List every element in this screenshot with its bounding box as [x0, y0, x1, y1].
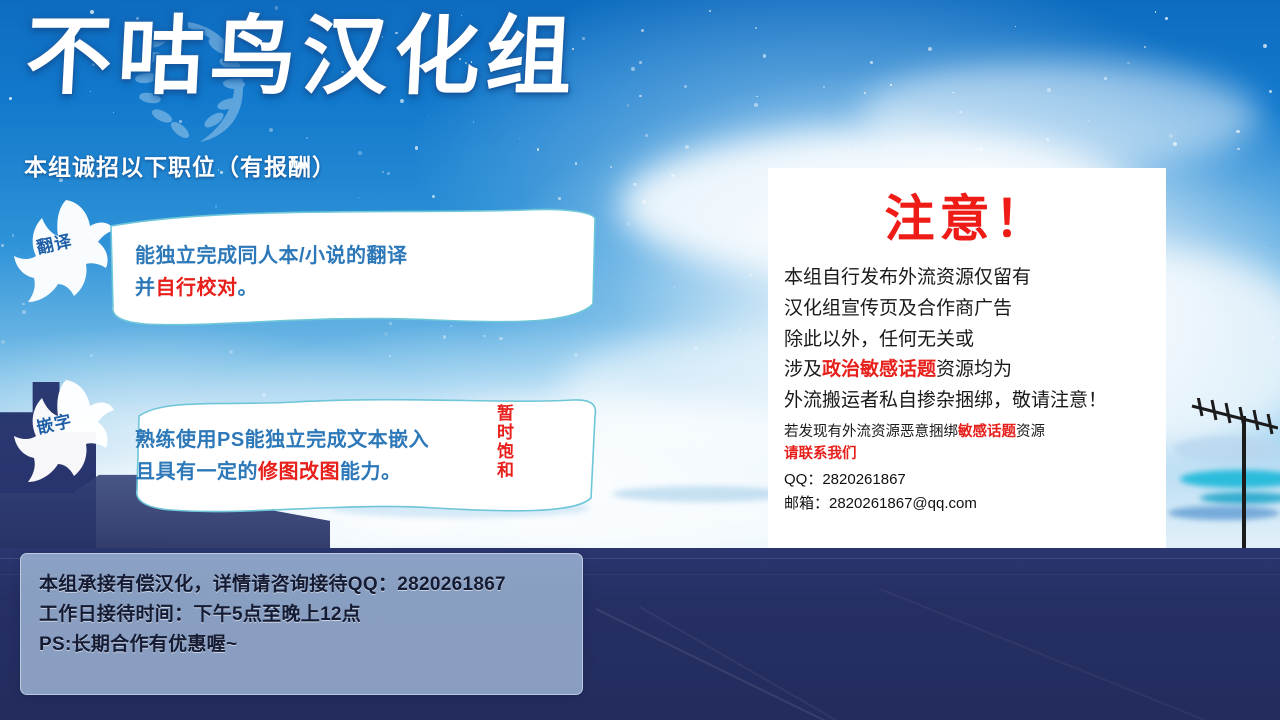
notice-small-prefix: 若发现有外流资源恶意捆绑 [784, 424, 958, 440]
notice-panel: 注意！ 本组自行发布外流资源仅留有 汉化组宣传页及合作商广告 除此以外，任何无关… [768, 168, 1166, 548]
roof-seam [880, 588, 1270, 720]
notice-small-print: 若发现有外流资源恶意捆绑敏感话题资源 请联系我们 [784, 421, 1150, 465]
typesetter-line2-prefix: 且具有一定的 [135, 461, 258, 483]
notice-line-politics: 涉及政治敏感话题资源均为 [784, 355, 1150, 386]
notice-small-line: 若发现有外流资源恶意捆绑敏感话题资源 [784, 421, 1150, 443]
notice-line: 汉化组宣传页及合作商广告 [784, 294, 1150, 325]
translator-line2-suffix: 。 [238, 277, 259, 299]
dove-icon [14, 198, 118, 316]
notice-politics-prefix: 涉及 [784, 359, 822, 380]
notice-line: 外流搬运者私自掺杂捆绑，敬请注意！ [784, 386, 1150, 417]
notice-politics-suffix: 资源均为 [936, 359, 1012, 380]
translator-line1: 能独立完成同人本/小说的翻译 [135, 245, 408, 267]
translator-line2-highlight: 自行校对 [156, 277, 238, 299]
typesetter-line2-highlight: 修图改图 [258, 461, 340, 483]
roof-seam [640, 606, 987, 720]
typesetter-line2-suffix: 能力。 [340, 461, 402, 483]
bottom-line-1: 本组承接有偿汉化，详情请咨询接待QQ：2820261867 [39, 570, 582, 600]
notice-body: 本组自行发布外流资源仅留有 汉化组宣传页及合作商广告 除此以外，任何无关或 涉及… [784, 263, 1150, 417]
notice-small-suffix: 资源 [1016, 424, 1045, 440]
roof-seam [596, 608, 974, 720]
page-title: 不咕鸟汉化组 [24, 14, 581, 100]
notice-line: 除此以外，任何无关或 [784, 325, 1150, 356]
notice-qq[interactable]: QQ：2820261867 [784, 468, 1150, 492]
bottom-line-3: PS:长期合作有优惠喔~ [39, 630, 582, 660]
speech-banner-typesetter: 熟练使用PS能独立完成文本嵌入 且具有一定的修图改图能力。 暂时饱和 [105, 390, 600, 520]
notice-politics-highlight: 政治敏感话题 [822, 359, 936, 380]
tv-antenna-icon [1186, 398, 1278, 550]
notice-line: 本组自行发布外流资源仅留有 [784, 263, 1150, 294]
bottom-info-banner: 本组承接有偿汉化，详情请咨询接待QQ：2820261867 工作日接待时间：下午… [20, 553, 583, 695]
position-text-translator: 能独立完成同人本/小说的翻译 并自行校对。 [135, 240, 408, 305]
notice-contact-cta[interactable]: 请联系我们 [784, 443, 1150, 465]
notice-email[interactable]: 邮箱：2820261867@qq.com [784, 492, 1150, 516]
page-subtitle: 本组诚招以下职位（有报酬） [24, 148, 336, 182]
poster-canvas: 不咕鸟汉化组 本组诚招以下职位（有报酬） 翻译 能独立完成同人本/小说的翻译 并… [0, 0, 1280, 720]
status-badge-typesetter: 暂时饱和 [493, 404, 514, 480]
speech-banner-translator: 能独立完成同人本/小说的翻译 并自行校对。 [105, 204, 600, 332]
notice-contact-block: QQ：2820261867 邮箱：2820261867@qq.com [784, 468, 1150, 517]
dove-icon [14, 378, 118, 496]
bottom-line-2: 工作日接待时间：下午5点至晚上12点 [39, 600, 582, 630]
water-streak [612, 486, 792, 502]
notice-title: 注意！ [784, 190, 1150, 249]
translator-line2-prefix: 并 [135, 277, 156, 299]
cloud-shape [860, 60, 1260, 170]
typesetter-line1: 熟练使用PS能独立完成文本嵌入 [135, 429, 429, 451]
position-text-typesetter: 熟练使用PS能独立完成文本嵌入 且具有一定的修图改图能力。 [135, 424, 429, 489]
notice-small-highlight: 敏感话题 [958, 424, 1016, 440]
